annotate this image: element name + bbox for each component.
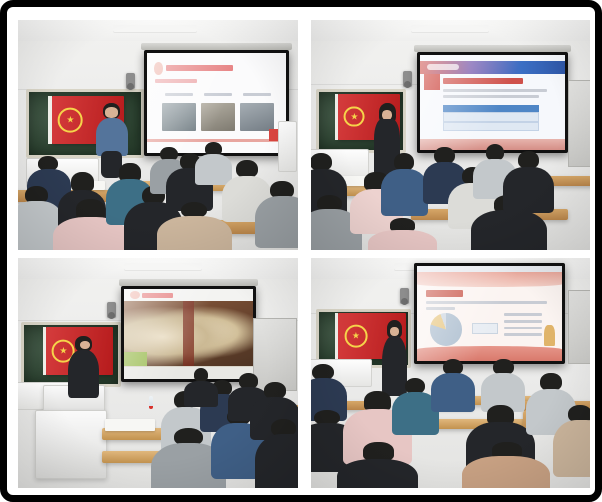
- photo-bottom-left[interactable]: ★: [18, 258, 298, 488]
- flag-star-emblem: ★: [58, 108, 83, 133]
- photo-grid: ★: [18, 20, 590, 488]
- screen-canvas: [124, 289, 252, 380]
- student-figure: [161, 202, 228, 250]
- student-figure: [372, 218, 433, 250]
- screen-canvas: [147, 53, 286, 153]
- ceiling-light-panel: [411, 25, 489, 32]
- student-figure: [258, 181, 297, 245]
- student-figure: [556, 405, 590, 474]
- podium-cabinet: [35, 410, 108, 479]
- student-figure: [383, 153, 425, 213]
- flag-star-emblem: ★: [344, 325, 367, 348]
- door-frame: [568, 80, 590, 167]
- photo-top-left[interactable]: ★: [18, 20, 298, 250]
- presenter-figure: [68, 336, 99, 396]
- flag-star-emblem: ★: [344, 106, 365, 127]
- wall-speaker: [400, 288, 409, 304]
- student-figure: [467, 442, 545, 488]
- student-figure: [506, 151, 551, 211]
- projector-screen: [414, 263, 565, 364]
- student-figure: [394, 378, 436, 433]
- wall-speaker: [107, 302, 116, 318]
- door-frame: [568, 290, 590, 364]
- wall-speaker: [403, 71, 412, 87]
- student-figure: [433, 359, 472, 410]
- screen-canvas: [417, 266, 562, 361]
- student-figure: [341, 442, 414, 488]
- ceiling-light-panel: [113, 25, 197, 32]
- photo-top-right[interactable]: ★: [311, 20, 591, 250]
- collage-frame: ★: [0, 0, 602, 502]
- wall-cabinet-2: [278, 121, 298, 172]
- papers-on-desk: [105, 419, 155, 431]
- water-bottle: [149, 396, 153, 409]
- wall-speaker: [126, 73, 135, 89]
- photo-bottom-right[interactable]: ★: [311, 258, 591, 488]
- student-figure: [258, 419, 297, 488]
- ceiling-light-panel: [124, 263, 202, 270]
- student-figure: [484, 359, 523, 410]
- projector-screen: [144, 50, 289, 156]
- screen-canvas: [420, 55, 565, 150]
- student-figure: [186, 368, 217, 405]
- projector-screen: [417, 52, 568, 153]
